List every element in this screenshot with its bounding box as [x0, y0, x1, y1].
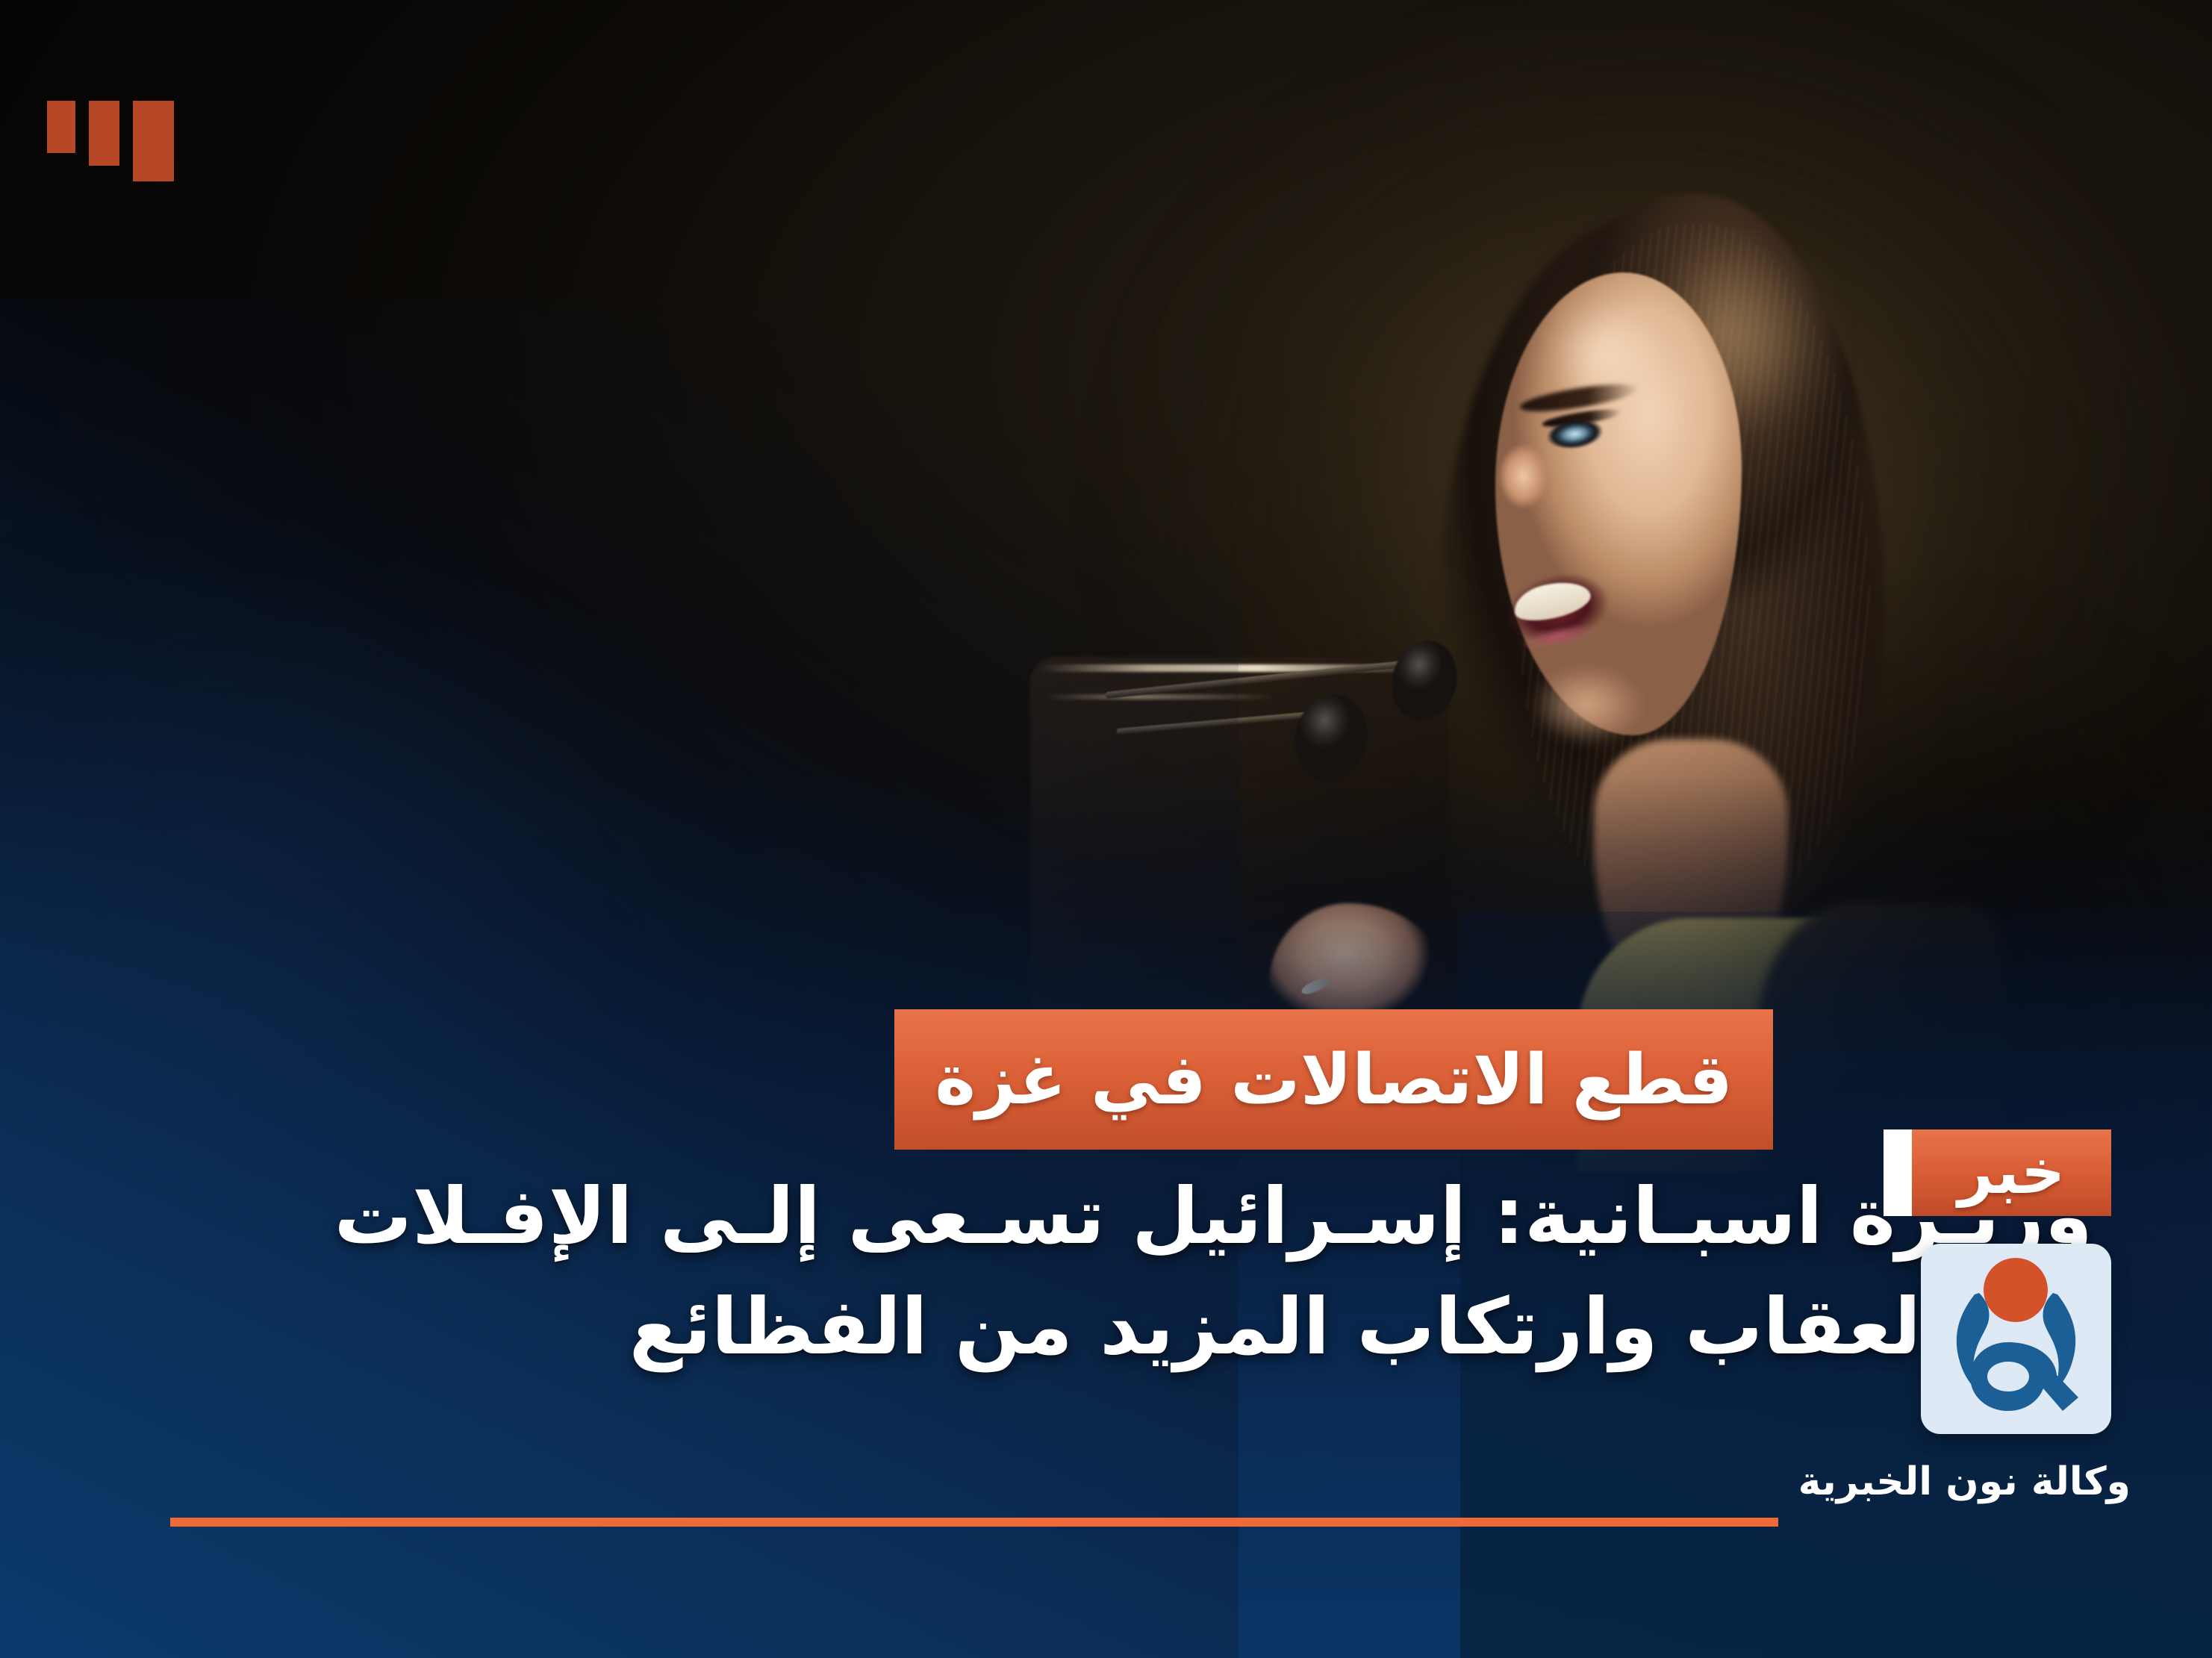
- brand-block: خبر وكالة نون الخبرية: [1865, 1129, 2111, 1503]
- news-badge-label: خبر: [1958, 1142, 2066, 1203]
- kicker-label: قطع الاتصالات في غزة: [935, 1045, 1733, 1115]
- news-badge-box: خبر: [1912, 1129, 2111, 1216]
- agency-name: وكالة نون الخبرية: [1865, 1461, 2131, 1503]
- headline: وزيـرة اسبـانية: إسـرائيل تسـعى إلـى الإ…: [127, 1162, 2093, 1382]
- news-card: CCOO قطع الاتصالات في غزة وزيـرة اسبـاني…: [0, 0, 2212, 1658]
- kicker-badge: قطع الاتصالات في غزة: [894, 1009, 1773, 1150]
- headline-line-2: من العقاب وارتكاب المزيد من الفظائع: [127, 1272, 2093, 1383]
- mark-bar-3: [47, 101, 75, 153]
- blue-gradient-overlay-left: [0, 299, 1239, 1658]
- noon-logo-icon: [1921, 1244, 2111, 1434]
- mark-bar-1: [133, 101, 174, 181]
- headline-line-1: وزيـرة اسبـانية: إسـرائيل تسـعى إلـى الإ…: [127, 1162, 2093, 1272]
- orange-divider-rule: [170, 1518, 1778, 1527]
- agency-logo-tile: [1921, 1244, 2111, 1434]
- mark-bar-2: [89, 101, 119, 166]
- news-badge: خبر: [1884, 1129, 2111, 1216]
- news-badge-white-bar: [1884, 1129, 1912, 1216]
- agency-mark-bars: [47, 101, 174, 181]
